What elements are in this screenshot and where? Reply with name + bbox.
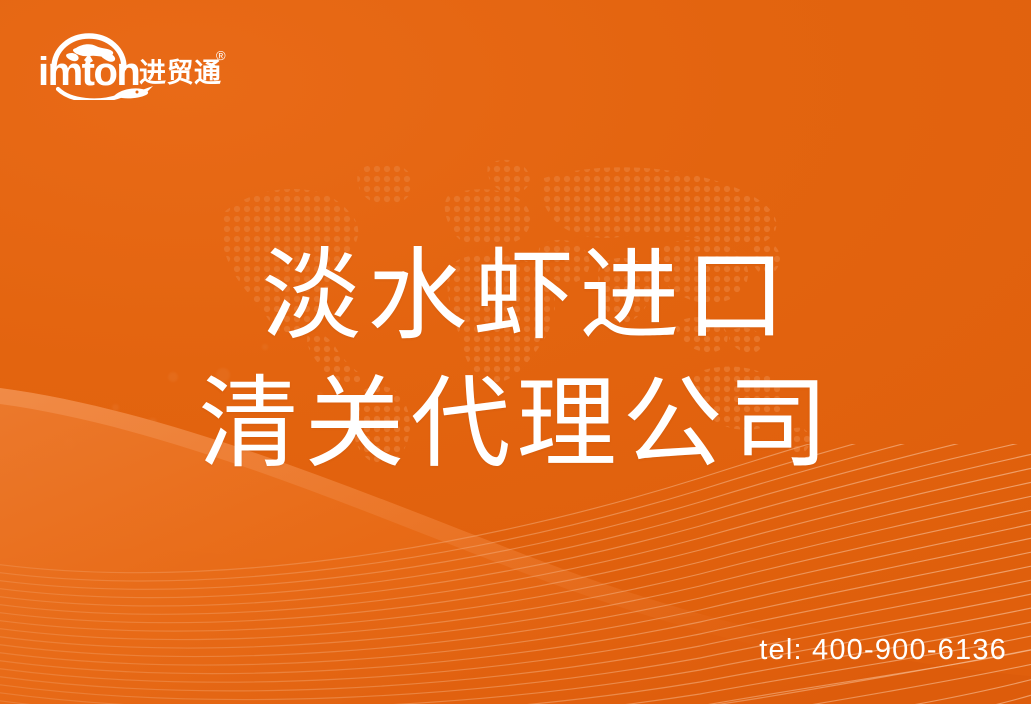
logo-wordmark: imton bbox=[38, 50, 139, 94]
imton-logo[interactable]: imton 进贸通 ® bbox=[36, 30, 236, 100]
headline: 淡水虾进口 清关代理公司 bbox=[0, 232, 1031, 488]
phone-number: tel: 400-900-6136 bbox=[759, 633, 1007, 667]
logo-trademark-symbol: ® bbox=[216, 48, 226, 63]
logo-chinese-name: 进贸通 bbox=[139, 58, 222, 89]
promo-banner: imton 进贸通 ® 淡水虾进口 清关代理公司 tel: 400-900-61… bbox=[0, 0, 1031, 704]
headline-line-1: 淡水虾进口 bbox=[0, 232, 1031, 360]
headline-line-2: 清关代理公司 bbox=[0, 360, 1031, 488]
